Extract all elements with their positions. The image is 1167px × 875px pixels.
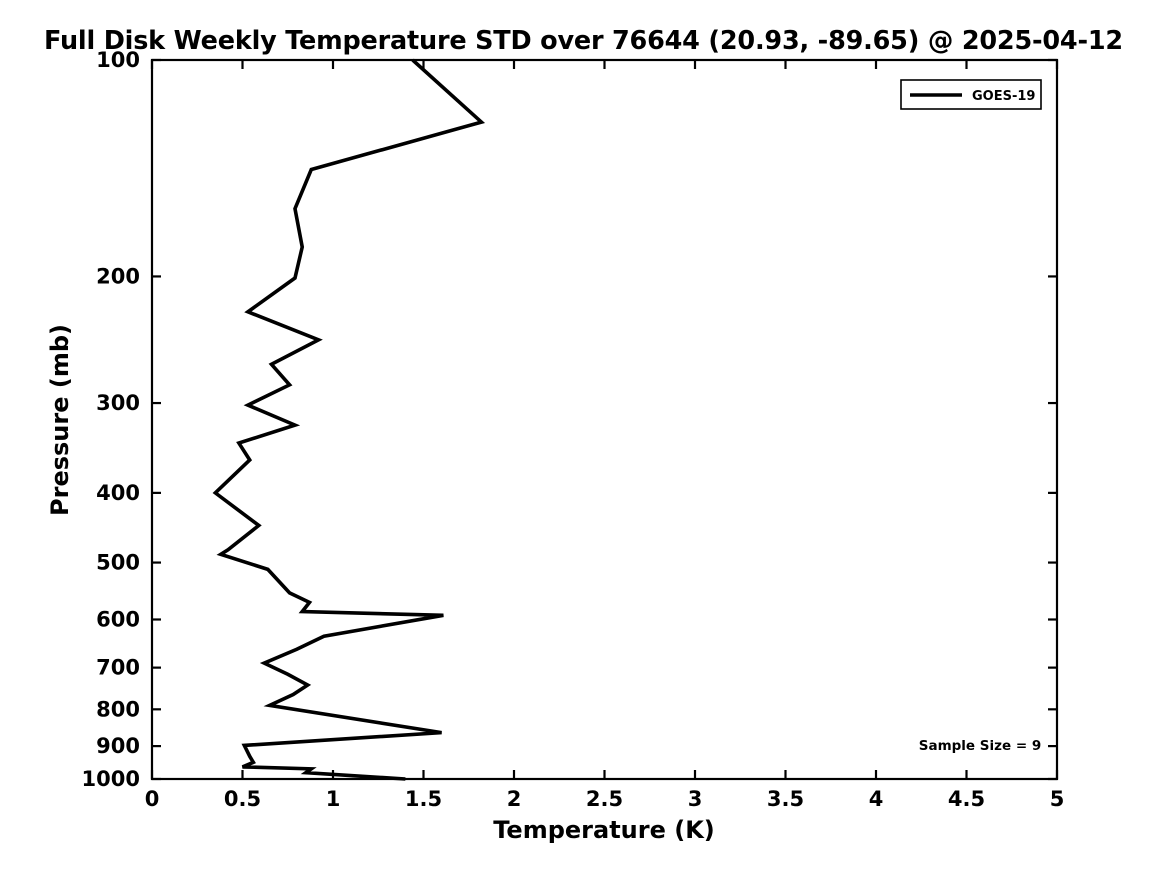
x-axis-ticks xyxy=(152,60,1057,779)
y-tick-label: 900 xyxy=(96,734,140,758)
x-tick-label: 0 xyxy=(145,787,160,811)
x-tick-label: 3 xyxy=(688,787,703,811)
series-line-goes-19 xyxy=(215,60,481,779)
y-tick-label: 400 xyxy=(96,481,140,505)
y-axis-label: Pressure (mb) xyxy=(46,324,74,516)
y-tick-label: 300 xyxy=(96,391,140,415)
x-tick-label: 2.5 xyxy=(586,787,623,811)
y-tick-label: 100 xyxy=(96,48,140,72)
x-tick-label: 5 xyxy=(1050,787,1065,811)
figure-canvas: Full Disk Weekly Temperature STD over 76… xyxy=(0,0,1167,875)
y-axis-tick-labels: 1002003004005006007008009001000 xyxy=(82,48,140,791)
x-tick-label: 4 xyxy=(869,787,884,811)
y-axis-ticks xyxy=(152,60,1057,779)
x-axis-tick-labels: 00.511.522.533.544.55 xyxy=(145,787,1065,811)
x-tick-label: 2 xyxy=(507,787,522,811)
sample-size-annotation: Sample Size = 9 xyxy=(919,738,1042,754)
x-tick-label: 1 xyxy=(326,787,341,811)
y-tick-label: 700 xyxy=(96,656,140,680)
axes-frame xyxy=(152,60,1057,779)
x-tick-label: 0.5 xyxy=(224,787,261,811)
y-tick-label: 1000 xyxy=(82,767,140,791)
x-tick-label: 4.5 xyxy=(948,787,985,811)
y-tick-label: 600 xyxy=(96,607,140,631)
data-series-layer xyxy=(215,60,481,779)
plot-area: 00.511.522.533.544.55 100200300400500600… xyxy=(0,0,1167,875)
legend[interactable]: GOES-19 xyxy=(901,80,1041,109)
y-tick-label: 500 xyxy=(96,551,140,575)
x-tick-label: 3.5 xyxy=(767,787,804,811)
x-tick-label: 1.5 xyxy=(405,787,442,811)
y-tick-label: 800 xyxy=(96,697,140,721)
y-tick-label: 200 xyxy=(96,264,140,288)
x-axis-label: Temperature (K) xyxy=(493,816,715,844)
legend-label-goes-19: GOES-19 xyxy=(972,89,1035,104)
